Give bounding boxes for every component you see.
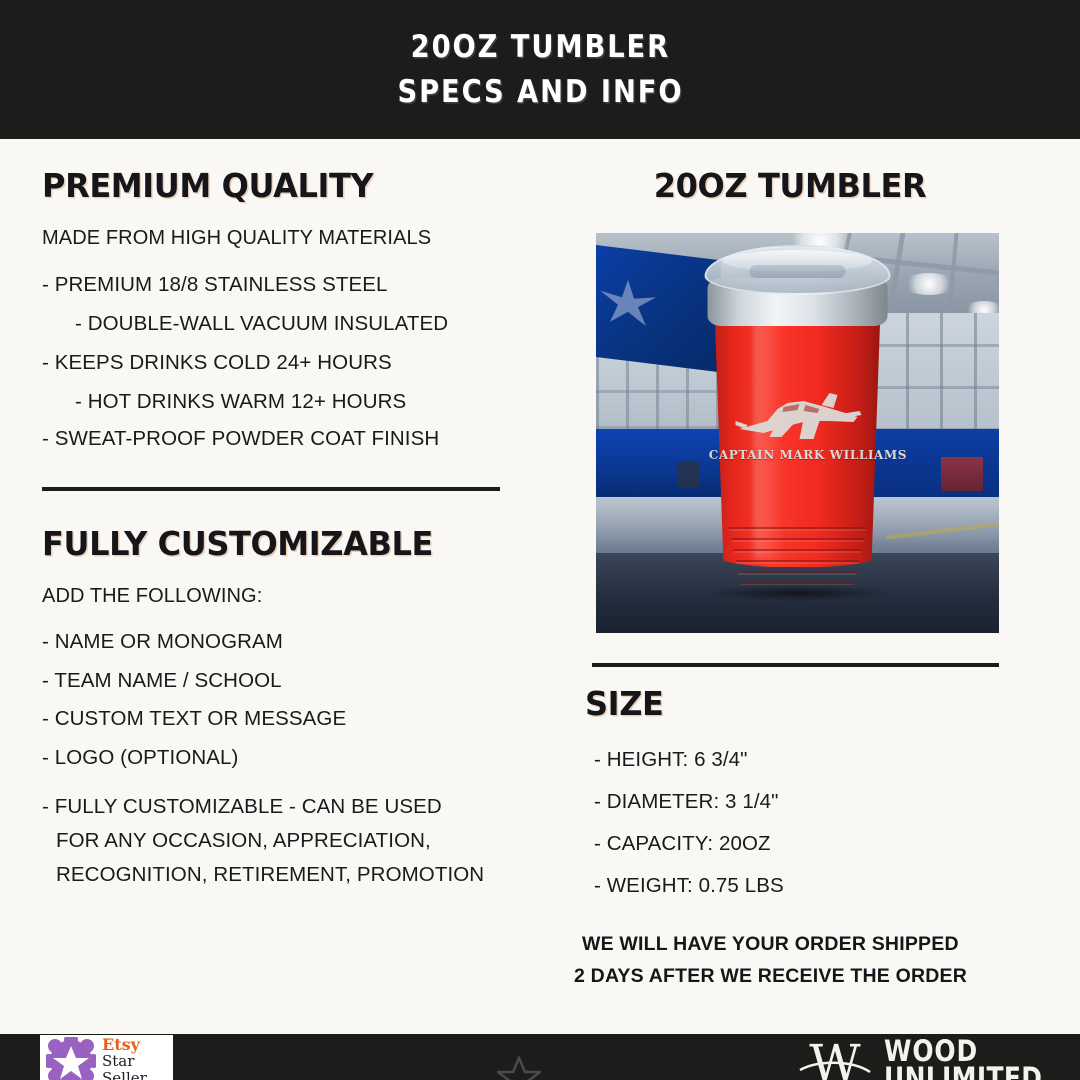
etsy-name: Etsy bbox=[102, 1036, 173, 1053]
premium-bullet: - SWEAT-PROOF POWDER COAT FINISH bbox=[42, 427, 439, 451]
premium-bullet: - PREMIUM 18/8 STAINLESS STEEL bbox=[42, 273, 388, 297]
premium-quality-lead: MADE FROM HIGH QUALITY MATERIALS bbox=[42, 227, 431, 250]
right-section-divider bbox=[592, 663, 999, 667]
header-banner: 20OZ TUMBLER SPECS AND INFO bbox=[0, 0, 1080, 139]
customizable-lead: ADD THE FOLLOWING: bbox=[42, 585, 262, 608]
header-title-line-2: SPECS AND INFO bbox=[397, 70, 683, 114]
brand-line-2: UNLIMITED bbox=[884, 1065, 1042, 1080]
shipping-note-line: WE WILL HAVE YOUR ORDER SHIPPED bbox=[582, 933, 959, 956]
tumbler-product: CAPTAIN MARK WILLIAMS bbox=[705, 245, 890, 595]
customizable-bullet: - TEAM NAME / SCHOOL bbox=[42, 669, 282, 693]
shipping-note-line: 2 DAYS AFTER WE RECEIVE THE ORDER bbox=[574, 965, 967, 988]
left-section-divider bbox=[42, 487, 500, 491]
ceiling-light bbox=[902, 273, 956, 295]
tumbler-lid bbox=[705, 245, 891, 295]
customizable-closing-line: FOR ANY OCCASION, APPRECIATION, bbox=[42, 829, 431, 853]
wood-unlimited-wordmark: WOOD UNLIMITED bbox=[884, 1038, 1042, 1080]
etsy-tier: Star Seller bbox=[102, 1053, 173, 1080]
tumbler-shadow bbox=[703, 585, 893, 601]
wood-unlimited-logo: W WOOD UNLIMITED bbox=[798, 1038, 1068, 1080]
star-rosette-icon bbox=[46, 1037, 96, 1080]
premium-bullet: - HOT DRINKS WARM 12+ HOURS bbox=[42, 390, 406, 414]
size-spec: - DIAMETER: 3 1/4" bbox=[580, 790, 779, 814]
hangar-tool-cart bbox=[941, 457, 983, 491]
customizable-closing-line: RECOGNITION, RETIREMENT, PROMOTION bbox=[42, 863, 484, 887]
etsy-badge-text: Etsy Star Seller bbox=[102, 1036, 173, 1080]
footer-bar: Etsy Star Seller W WOOD UNLIMITED bbox=[0, 1034, 1080, 1080]
premium-bullet: - DOUBLE-WALL VACUUM INSULATED bbox=[42, 312, 448, 336]
customizable-bullet: - NAME OR MONOGRAM bbox=[42, 630, 283, 654]
fighter-jet-icon bbox=[734, 391, 862, 449]
w-monogram-icon: W bbox=[798, 1038, 872, 1080]
blue-hangar-wall bbox=[596, 245, 721, 372]
customizable-closing-line: - FULLY CUSTOMIZABLE - CAN BE USED bbox=[42, 795, 442, 819]
tumbler-base-ridges bbox=[723, 527, 873, 585]
hangar-bin bbox=[677, 461, 699, 487]
size-heading: SIZE bbox=[585, 684, 663, 723]
customizable-bullet: - CUSTOM TEXT OR MESSAGE bbox=[42, 707, 346, 731]
customizable-bullet: - LOGO (OPTIONAL) bbox=[42, 746, 238, 770]
air-force-emblem-icon bbox=[598, 272, 658, 331]
premium-quality-heading: PREMIUM QUALITY bbox=[42, 166, 373, 205]
product-photo: CAPTAIN MARK WILLIAMS bbox=[596, 233, 999, 633]
content-area: PREMIUM QUALITY MADE FROM HIGH QUALITY M… bbox=[0, 139, 1080, 1034]
size-spec: - HEIGHT: 6 3/4" bbox=[580, 748, 748, 772]
size-spec: - WEIGHT: 0.75 LBS bbox=[580, 874, 784, 898]
size-spec: - CAPACITY: 20OZ bbox=[580, 832, 771, 856]
premium-bullet: - KEEPS DRINKS COLD 24+ HOURS bbox=[42, 351, 392, 375]
tumbler-lid-slider bbox=[750, 265, 846, 278]
tumbler-engraving-text: CAPTAIN MARK WILLIAMS bbox=[709, 447, 887, 462]
svg-text:W: W bbox=[809, 1038, 861, 1080]
header-title-line-1: 20OZ TUMBLER bbox=[410, 25, 669, 69]
fully-customizable-heading: FULLY CUSTOMIZABLE bbox=[42, 524, 433, 563]
star-outline-icon bbox=[497, 1056, 541, 1080]
etsy-star-seller-badge: Etsy Star Seller bbox=[40, 1035, 173, 1080]
product-heading: 20OZ TUMBLER bbox=[586, 166, 993, 205]
